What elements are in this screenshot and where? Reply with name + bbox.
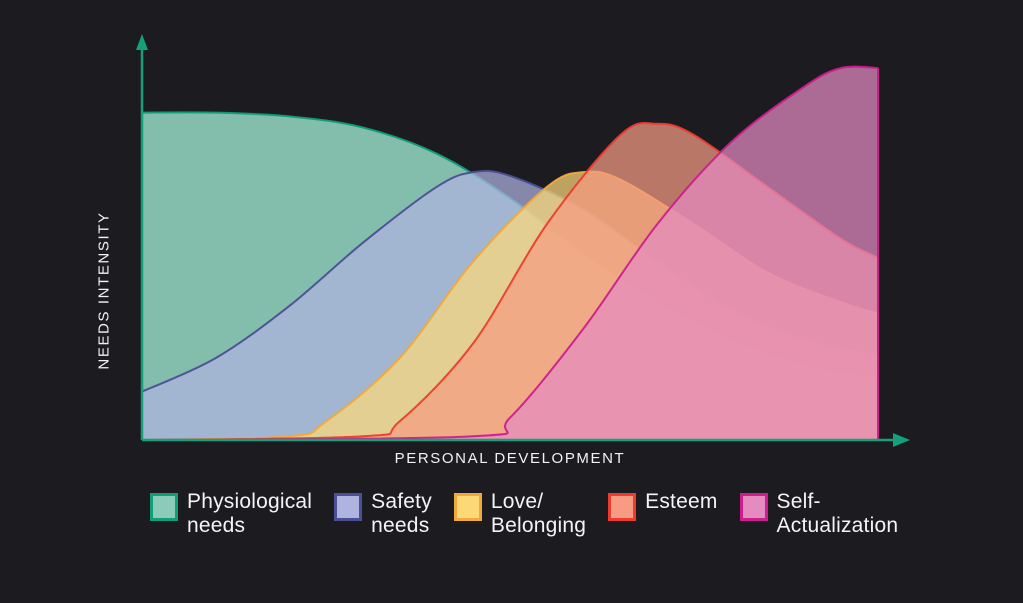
legend-item-5[interactable]: Self- Actualization (740, 490, 899, 538)
y-axis-arrowhead (136, 34, 148, 50)
legend-label-1: Physiological needs (187, 490, 312, 538)
x-axis-label: PERSONAL DEVELOPMENT (142, 450, 878, 467)
legend-label-4: Esteem (645, 490, 717, 514)
legend-label-2: Safety needs (371, 490, 432, 538)
legend-swatch-icon-2 (334, 493, 362, 521)
chart-legend: Physiological needsSafety needsLove/ Bel… (150, 490, 920, 538)
y-axis-label: NEEDS INTENSITY (96, 181, 113, 401)
legend-swatch-icon-3 (454, 493, 482, 521)
chart-canvas: NEEDS INTENSITY PERSONAL DEVELOPMENT Phy… (0, 0, 1023, 603)
legend-item-3[interactable]: Love/ Belonging (454, 490, 586, 538)
legend-item-1[interactable]: Physiological needs (150, 490, 312, 538)
legend-label-5: Self- Actualization (777, 490, 899, 538)
legend-swatch-icon-1 (150, 493, 178, 521)
legend-swatch-icon-4 (608, 493, 636, 521)
legend-item-2[interactable]: Safety needs (334, 490, 432, 538)
x-axis-arrowhead (893, 433, 910, 447)
legend-item-4[interactable]: Esteem (608, 490, 717, 521)
area-series-group (142, 67, 878, 440)
legend-label-3: Love/ Belonging (491, 490, 586, 538)
legend-swatch-icon-5 (740, 493, 768, 521)
